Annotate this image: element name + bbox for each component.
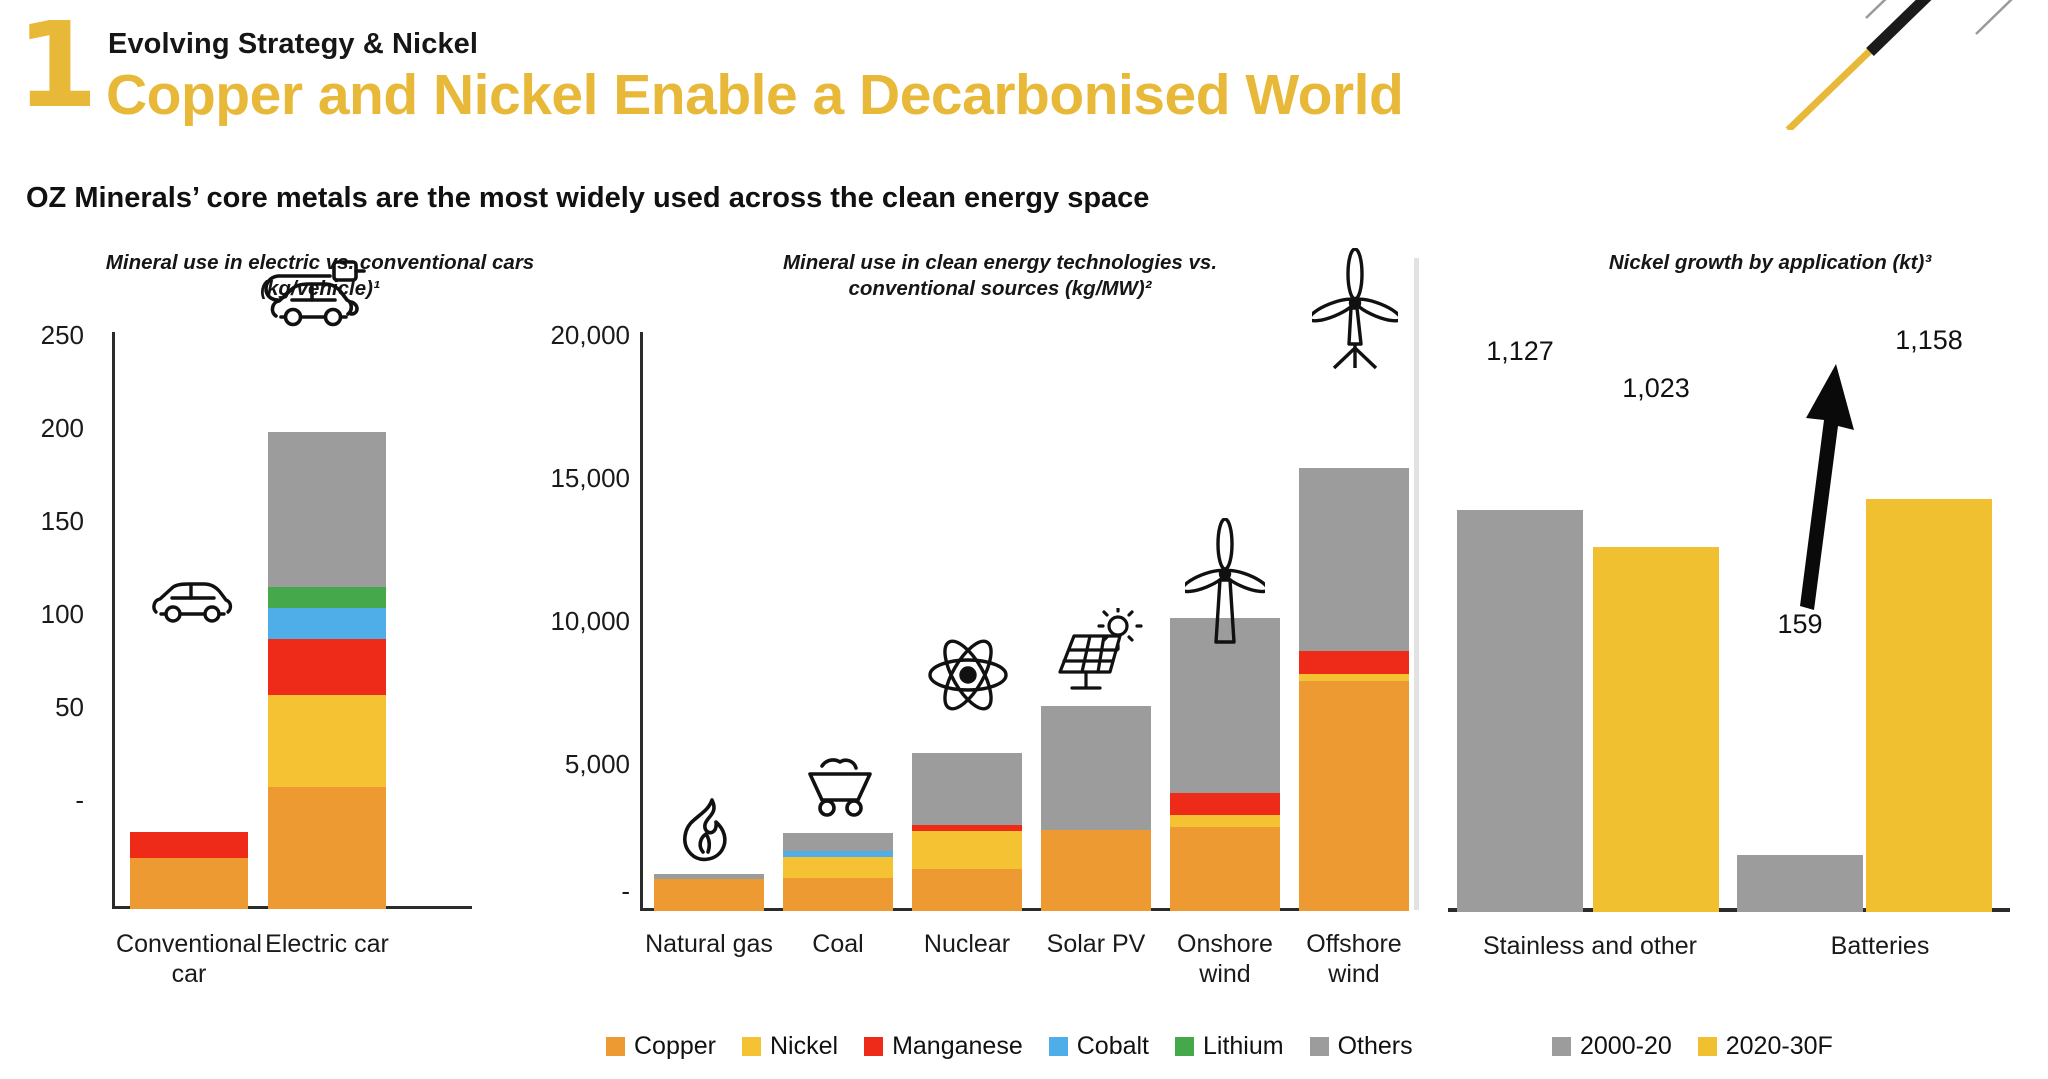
seg-others: [268, 432, 386, 587]
car-icon: [148, 578, 234, 628]
legend-label-lithium: Lithium: [1203, 1032, 1284, 1061]
slide: 1 Evolving Strategy & Nickel Copper and …: [0, 0, 2048, 1079]
seg-others: [1041, 706, 1151, 830]
coal-cart-icon: [800, 756, 880, 818]
y-axis-cars: [112, 332, 115, 908]
seg-copper: [912, 869, 1022, 911]
y-axis-energy: [640, 332, 643, 910]
catlabel-electric-car: Electric car: [246, 930, 408, 960]
legend-swatch-nickel: [742, 1037, 761, 1056]
ytick-energy-5000: 5,000: [490, 749, 630, 780]
solar-panel-icon: [1048, 608, 1144, 700]
ytick-cars-0: -: [0, 785, 84, 816]
value-label-stainless-2000-20: 1,127: [1457, 336, 1583, 367]
legend-item-nickel[interactable]: Nickel: [742, 1032, 838, 1061]
legend-label-cobalt: Cobalt: [1077, 1032, 1149, 1061]
ytick-cars-150: 150: [0, 506, 84, 537]
legend-swatch-manganese: [864, 1037, 883, 1056]
seg-lithium: [268, 587, 386, 608]
page-subheading: OZ Minerals’ core metals are the most wi…: [26, 182, 1149, 215]
section-eyebrow: Evolving Strategy & Nickel: [108, 28, 478, 61]
bar-electric-car[interactable]: [268, 432, 386, 909]
seg-nickel: [268, 695, 386, 787]
ytick-cars-200: 200: [0, 413, 84, 444]
legend-periods: 2000-20 2020-30F: [1552, 1032, 1859, 1061]
bar-solar-pv[interactable]: [1041, 706, 1151, 911]
value-label-batteries-2020-30F: 1,158: [1866, 325, 1992, 356]
seg-manganese: [912, 825, 1022, 831]
seg-manganese: [1299, 651, 1409, 674]
ytick-energy-20000: 20,000: [490, 320, 630, 351]
seg-copper: [1299, 681, 1409, 911]
seg-copper: [783, 878, 893, 911]
legend-swatch-others: [1310, 1037, 1329, 1056]
chart-title-nickel-growth: Nickel growth by application (kt)³: [1580, 250, 1960, 276]
catlabel-natural-gas: Natural gas: [634, 930, 784, 960]
legend-item-manganese[interactable]: Manganese: [864, 1032, 1023, 1061]
value-label-stainless-2020-30F: 1,023: [1593, 373, 1719, 404]
offshore-wind-turbine-icon: [1312, 248, 1398, 372]
ytick-energy-15000: 15,000: [490, 463, 630, 494]
seg-nickel: [783, 857, 893, 878]
seg-copper: [1041, 830, 1151, 911]
seg-others: [654, 874, 764, 879]
page-title: Copper and Nickel Enable a Decarbonised …: [106, 62, 1403, 128]
seg-manganese: [130, 832, 248, 858]
seg-nickel: [1299, 674, 1409, 681]
bar-coal[interactable]: [783, 833, 893, 911]
seg-manganese: [268, 639, 386, 695]
electric-car-icon: [256, 256, 368, 336]
seg-manganese: [1170, 793, 1280, 815]
ytick-cars-250: 250: [0, 320, 84, 351]
catlabel-offshore-wind: Offshore wind: [1279, 930, 1429, 989]
bar-batteries-2020-30F[interactable]: [1866, 499, 1992, 912]
section-divider: [1414, 258, 1419, 910]
seg-nickel: [1170, 815, 1280, 827]
corner-decoration: [1758, 0, 2048, 130]
catlabel-solar-pv: Solar PV: [1021, 930, 1171, 960]
catlabel-stainless-and-other: Stainless and other: [1445, 932, 1735, 962]
seg-cobalt: [783, 851, 893, 857]
legend-label-copper: Copper: [634, 1032, 716, 1061]
legend-item-cobalt[interactable]: Cobalt: [1049, 1032, 1149, 1061]
legend-minerals: Copper Nickel Manganese Cobalt Lithium O…: [606, 1032, 1439, 1061]
growth-arrow-icon: [1780, 360, 1860, 610]
bar-onshore-wind[interactable]: [1170, 618, 1280, 911]
legend-label-others: Others: [1338, 1032, 1413, 1061]
legend-item-lithium[interactable]: Lithium: [1175, 1032, 1284, 1061]
bar-stainless-2000-20[interactable]: [1457, 510, 1583, 912]
wind-turbine-icon: [1185, 518, 1265, 652]
catlabel-batteries: Batteries: [1755, 932, 2005, 962]
section-number: 1: [16, 6, 92, 124]
bar-nuclear[interactable]: [912, 753, 1022, 911]
ytick-cars-50: 50: [0, 692, 84, 723]
seg-copper: [1170, 827, 1280, 911]
chart-title-clean-energy: Mineral use in clean energy technologies…: [740, 250, 1260, 302]
seg-copper: [130, 858, 248, 909]
ytick-cars-100: 100: [0, 599, 84, 630]
flame-icon: [676, 796, 738, 868]
legend-item-2000-20[interactable]: 2000-20: [1552, 1032, 1672, 1061]
atom-icon: [925, 632, 1011, 718]
bar-offshore-wind[interactable]: [1299, 468, 1409, 911]
legend-item-copper[interactable]: Copper: [606, 1032, 716, 1061]
bar-natural-gas[interactable]: [654, 874, 764, 911]
legend-swatch-copper: [606, 1037, 625, 1056]
bar-stainless-2020-30F[interactable]: [1593, 547, 1719, 912]
legend-item-2020-30F[interactable]: 2020-30F: [1698, 1032, 1833, 1061]
bar-batteries-2000-20[interactable]: [1737, 855, 1863, 912]
legend-label-manganese: Manganese: [892, 1032, 1023, 1061]
legend-swatch-2020-30F: [1698, 1037, 1717, 1056]
decorative-lines-icon: [1758, 0, 2048, 130]
legend-label-2000-20: 2000-20: [1580, 1032, 1672, 1061]
bar-conventional-car[interactable]: [130, 832, 248, 909]
seg-others: [912, 753, 1022, 825]
catlabel-onshore-wind: Onshore wind: [1150, 930, 1300, 989]
ytick-energy-10000: 10,000: [490, 606, 630, 637]
catlabel-nuclear: Nuclear: [892, 930, 1042, 960]
catlabel-coal: Coal: [763, 930, 913, 960]
seg-others: [1299, 468, 1409, 651]
legend-label-2020-30F: 2020-30F: [1726, 1032, 1833, 1061]
seg-copper: [654, 879, 764, 911]
legend-item-others[interactable]: Others: [1310, 1032, 1413, 1061]
legend-label-nickel: Nickel: [770, 1032, 838, 1061]
seg-cobalt: [268, 608, 386, 639]
seg-nickel: [912, 831, 1022, 869]
legend-swatch-2000-20: [1552, 1037, 1571, 1056]
seg-copper: [268, 787, 386, 909]
seg-others: [783, 833, 893, 851]
value-label-batteries-2000-20: 159: [1737, 609, 1863, 640]
legend-swatch-lithium: [1175, 1037, 1194, 1056]
ytick-energy-0: -: [490, 876, 630, 907]
legend-swatch-cobalt: [1049, 1037, 1068, 1056]
